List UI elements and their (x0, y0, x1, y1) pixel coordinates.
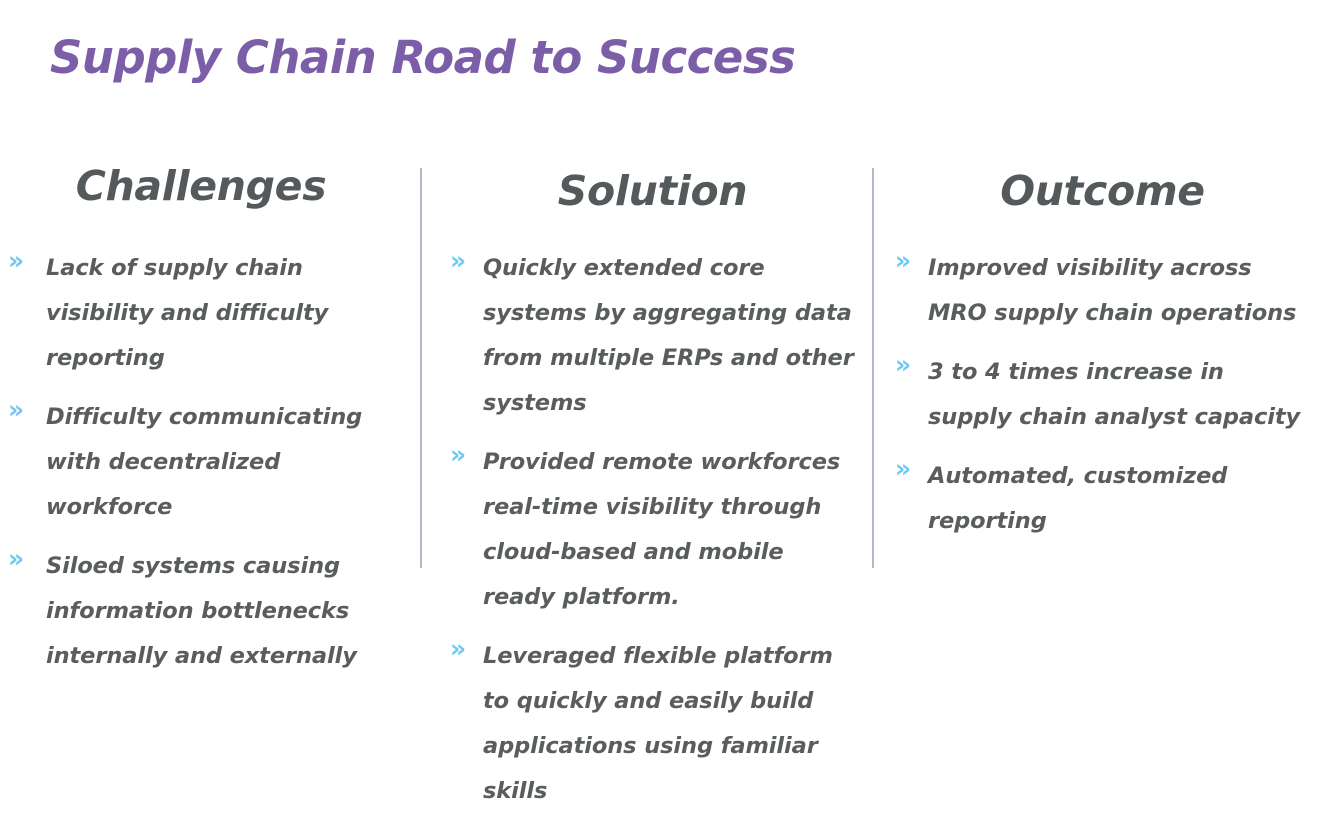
page-title: Supply Chain Road to Success (50, 28, 795, 89)
bullet-text: Automated, customized reporting (928, 454, 1310, 544)
bullet-text: Leveraged flexible platform to quickly a… (483, 634, 863, 814)
double-chevron-icon: » (450, 634, 483, 664)
bullet-text: Difficulty communicating with decentrali… (46, 395, 402, 530)
bullet-list-challenges: » Lack of supply chain visibility and di… (0, 246, 402, 679)
three-column-layout: Challenges » Lack of supply chain visibi… (0, 150, 1320, 657)
column-challenges: Challenges » Lack of supply chain visibi… (0, 150, 420, 693)
double-chevron-icon: » (895, 246, 928, 276)
list-item: » Provided remote workforces real-time v… (442, 440, 863, 620)
double-chevron-icon: » (895, 454, 928, 484)
bullet-text: Siloed systems causing information bottl… (46, 544, 402, 679)
list-item: » Leveraged flexible platform to quickly… (442, 634, 863, 814)
list-item: » 3 to 4 times increase in supply chain … (895, 350, 1310, 440)
slide-canvas: Supply Chain Road to Success Challenges … (0, 0, 1320, 657)
bullet-text: Improved visibility across MRO supply ch… (928, 246, 1310, 336)
double-chevron-icon: » (8, 544, 46, 574)
bullet-text: 3 to 4 times increase in supply chain an… (928, 350, 1310, 440)
bullet-list-solution: » Quickly extended core systems by aggre… (442, 246, 863, 814)
double-chevron-icon: » (8, 246, 46, 276)
double-chevron-icon: » (895, 350, 928, 380)
list-item: » Difficulty communicating with decentra… (0, 395, 402, 530)
bullet-text: Lack of supply chain visibility and diff… (46, 246, 402, 381)
column-heading-challenges: Challenges (0, 164, 402, 209)
list-item: » Siloed systems causing information bot… (0, 544, 402, 679)
double-chevron-icon: » (450, 246, 483, 276)
double-chevron-icon: » (8, 395, 46, 425)
column-outcome: Outcome » Improved visibility across MRO… (873, 150, 1320, 558)
bullet-text: Provided remote workforces real-time vis… (483, 440, 863, 620)
double-chevron-icon: » (450, 440, 483, 470)
list-item: » Quickly extended core systems by aggre… (442, 246, 863, 426)
column-solution: Solution » Quickly extended core systems… (420, 150, 873, 828)
bullet-list-outcome: » Improved visibility across MRO supply … (895, 246, 1310, 544)
column-heading-outcome: Outcome (895, 169, 1310, 214)
list-item: » Automated, customized reporting (895, 454, 1310, 544)
list-item: » Lack of supply chain visibility and di… (0, 246, 402, 381)
list-item: » Improved visibility across MRO supply … (895, 246, 1310, 336)
bullet-text: Quickly extended core systems by aggrega… (483, 246, 863, 426)
column-heading-solution: Solution (442, 169, 863, 214)
